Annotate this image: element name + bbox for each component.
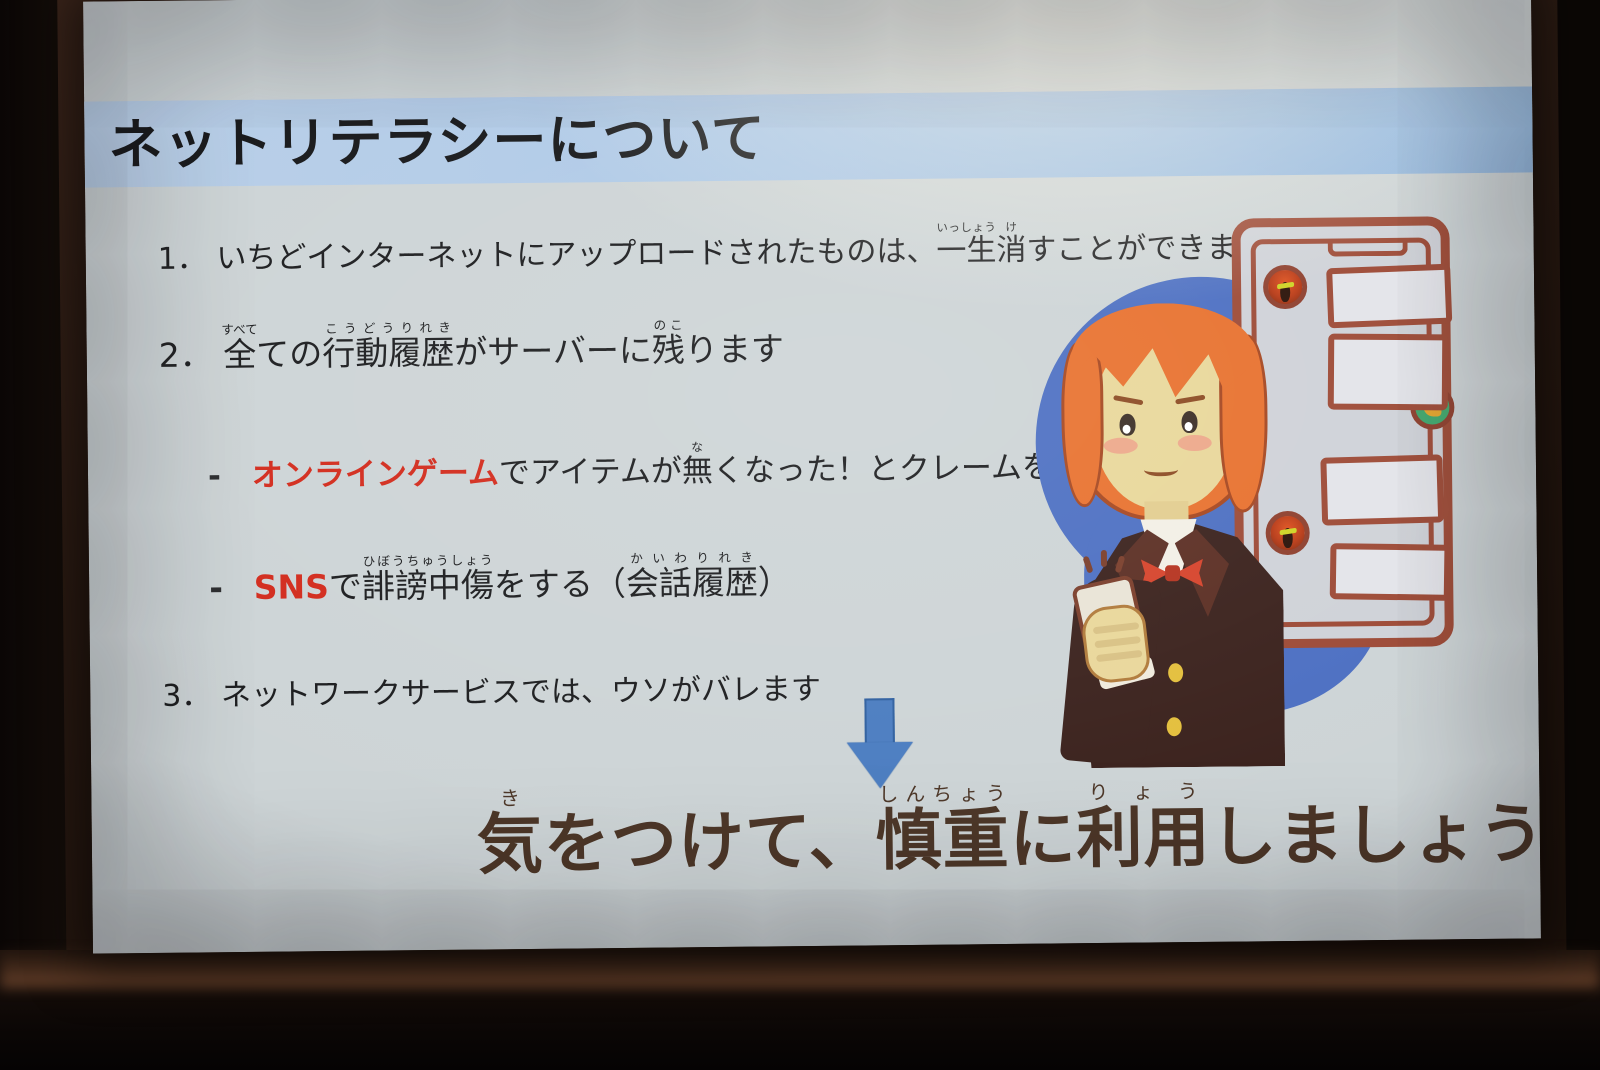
down-arrow-icon — [846, 698, 913, 789]
surprise-mark-1 — [1082, 556, 1093, 574]
surprise-mark-2 — [1101, 550, 1107, 567]
list-item-2: 2． 全すべてての行動履歴こうどうりれきがサーバーに残のこります — [158, 316, 784, 377]
hair-sidelock-left — [1061, 342, 1105, 507]
blazer-button-2 — [1167, 717, 1182, 736]
slide-title: ネットリテラシーについて — [108, 95, 1309, 184]
sinister-avatar-icon-1 — [1263, 265, 1307, 309]
sub-item-2-dash: - — [209, 568, 243, 607]
ruby-subete: 全すべて — [223, 335, 256, 374]
conclusion-text: 気きをつけて、慎重しんちょうに利用りょうしましょう — [476, 776, 1541, 887]
arrow-head — [847, 742, 913, 789]
eye-left — [1119, 414, 1135, 436]
list-item-2-text: 全すべてての行動履歴こうどうりれきがサーバーに残のこります — [223, 329, 784, 374]
chat-bubble-3 — [1320, 454, 1444, 525]
ruby-shinchou: 慎重しんちょう — [875, 801, 1010, 879]
chat-bubble-1 — [1326, 264, 1452, 329]
ruby-hibouchuushou: 誹謗中傷ひぼうちゅうしょう — [362, 565, 494, 605]
sub-item-1-highlight: オンラインゲーム — [252, 455, 499, 494]
list-item-3: 3． ネットワークサービスでは、ウソがバレます — [162, 664, 821, 715]
list-item-2-number: 2． — [158, 328, 212, 377]
sub-item-1-dash: - — [208, 458, 242, 494]
chat-bubble-2 — [1328, 334, 1449, 411]
floor-light-glow — [0, 948, 1600, 988]
projection-room: ネットリテラシーについて 1． いちどインターネットにアップロードされたものは、… — [0, 0, 1600, 1070]
ruby-ki: 気き — [477, 806, 545, 884]
eye-right — [1181, 411, 1197, 433]
sub-item-2: - SNSで誹謗中傷ひぼうちゅうしょうをする（会話履歴かいわりれき） — [209, 549, 791, 609]
arrow-shaft — [864, 698, 894, 744]
sub-item-2-highlight: SNS — [253, 567, 329, 607]
schoolgirl-figure — [1046, 304, 1301, 767]
hand — [1080, 602, 1152, 685]
ruby-kaiwarireki: 会話履歴かいわりれき — [626, 563, 758, 603]
chat-bubble-4 — [1330, 543, 1451, 601]
illustration-girl-with-phone — [985, 202, 1471, 767]
ruby-na: 無な — [682, 453, 713, 489]
ruby-noko: 残のこ — [652, 330, 685, 369]
sub-item-2-text: で誹謗中傷ひぼうちゅうしょうをする（会話履歴かいわりれき） — [329, 562, 791, 606]
list-item-1-number: 1． — [157, 233, 207, 278]
phone-notch — [1328, 239, 1408, 257]
presentation-slide: ネットリテラシーについて 1． いちどインターネットにアップロードされたものは、… — [83, 0, 1541, 954]
list-item-3-text: ネットワークサービスでは、ウソがバレます — [221, 672, 821, 713]
ruby-koudourireki: 行動履歴こうどうりれき — [322, 333, 454, 373]
list-item-3-number: 3． — [162, 670, 212, 715]
ruby-riyou: 利用りょう — [1076, 799, 1211, 877]
